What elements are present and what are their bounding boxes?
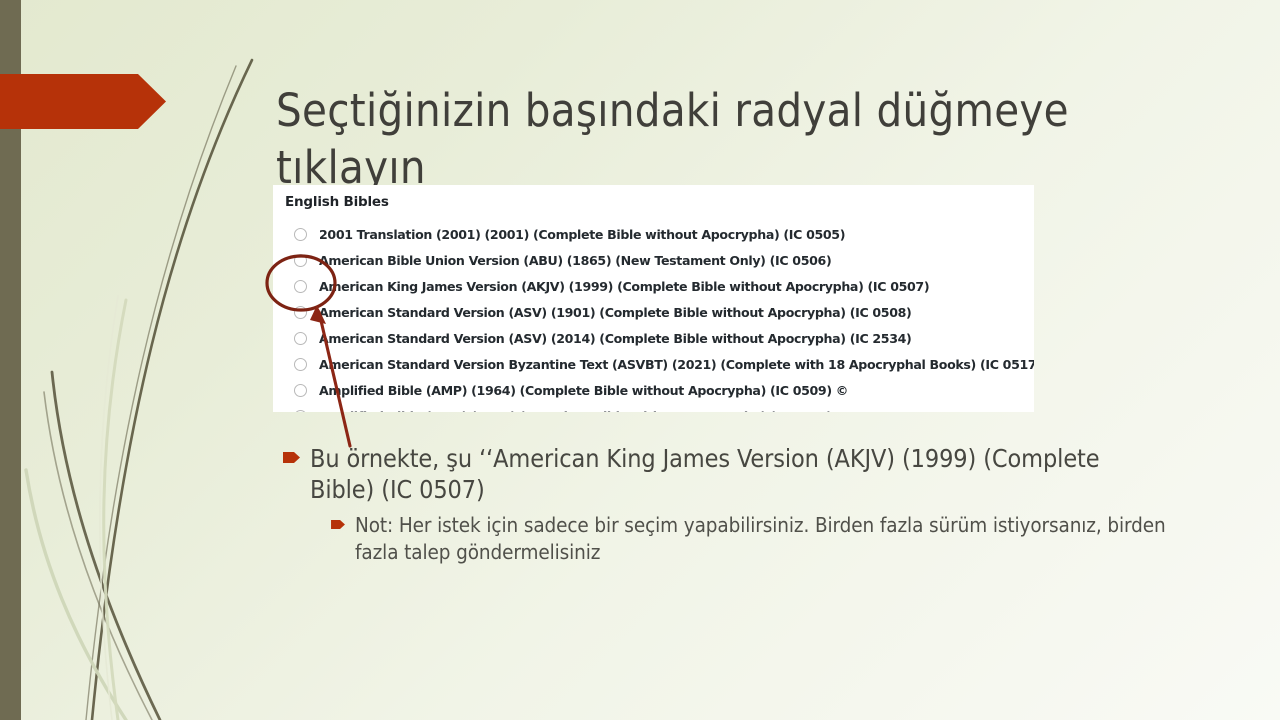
list-item[interactable]: American Standard Version (ASV) (1901) (… (273, 299, 1034, 325)
list-item[interactable]: Amplified Bible (AMP) (2015) (Complete B… (273, 403, 1034, 412)
radio-button-icon[interactable] (294, 228, 307, 241)
list-item[interactable]: Amplified Bible (AMP) (1964) (Complete B… (273, 377, 1034, 403)
option-label: Amplified Bible (AMP) (2015) (Complete B… (319, 409, 848, 413)
slide: Seçtiğinizin başındaki radyal düğmeye tı… (0, 0, 1280, 720)
arrow-bullet-icon (331, 520, 345, 529)
option-label: American Standard Version (ASV) (1901) (… (319, 305, 911, 320)
bullet-level2: Not: Her istek için sadece bir seçim yap… (331, 512, 1181, 566)
bullet-level2-text: Not: Her istek için sadece bir seçim yap… (355, 512, 1181, 566)
bible-version-panel: English Bibles 2001 Translation (2001) (… (273, 185, 1034, 412)
option-label: American Bible Union Version (ABU) (1865… (319, 253, 831, 268)
list-item[interactable]: American Bible Union Version (ABU) (1865… (273, 247, 1034, 273)
option-label: 2001 Translation (2001) (2001) (Complete… (319, 227, 845, 242)
bible-options-list: 2001 Translation (2001) (2001) (Complete… (273, 221, 1034, 412)
banner-arrow-shape (0, 74, 166, 129)
bullet-level1: Bu örnekte, şu ‘‘American King James Ver… (283, 443, 1163, 505)
option-label: American Standard Version Byzantine Text… (319, 357, 1034, 372)
option-label: Amplified Bible (AMP) (1964) (Complete B… (319, 383, 848, 398)
radio-button-icon[interactable] (294, 384, 307, 397)
arrow-bullet-icon (283, 452, 300, 463)
radio-button-icon[interactable] (294, 410, 307, 413)
list-item-akjv-1999[interactable]: American King James Version (AKJV) (1999… (273, 273, 1034, 299)
radio-button-icon[interactable] (294, 332, 307, 345)
radio-button-icon[interactable] (294, 254, 307, 267)
list-item[interactable]: 2001 Translation (2001) (2001) (Complete… (273, 221, 1034, 247)
radio-button-icon[interactable] (294, 280, 307, 293)
page-title: Seçtiğinizin başındaki radyal düğmeye tı… (276, 82, 1186, 196)
list-item[interactable]: American Standard Version Byzantine Text… (273, 351, 1034, 377)
option-label: American Standard Version (ASV) (2014) (… (319, 331, 911, 346)
radio-button-icon[interactable] (294, 306, 307, 319)
list-item[interactable]: American Standard Version (ASV) (2014) (… (273, 325, 1034, 351)
radio-button-icon[interactable] (294, 358, 307, 371)
option-label: American King James Version (AKJV) (1999… (319, 279, 929, 294)
panel-heading: English Bibles (285, 194, 389, 210)
bullet-level1-text: Bu örnekte, şu ‘‘American King James Ver… (310, 443, 1163, 505)
